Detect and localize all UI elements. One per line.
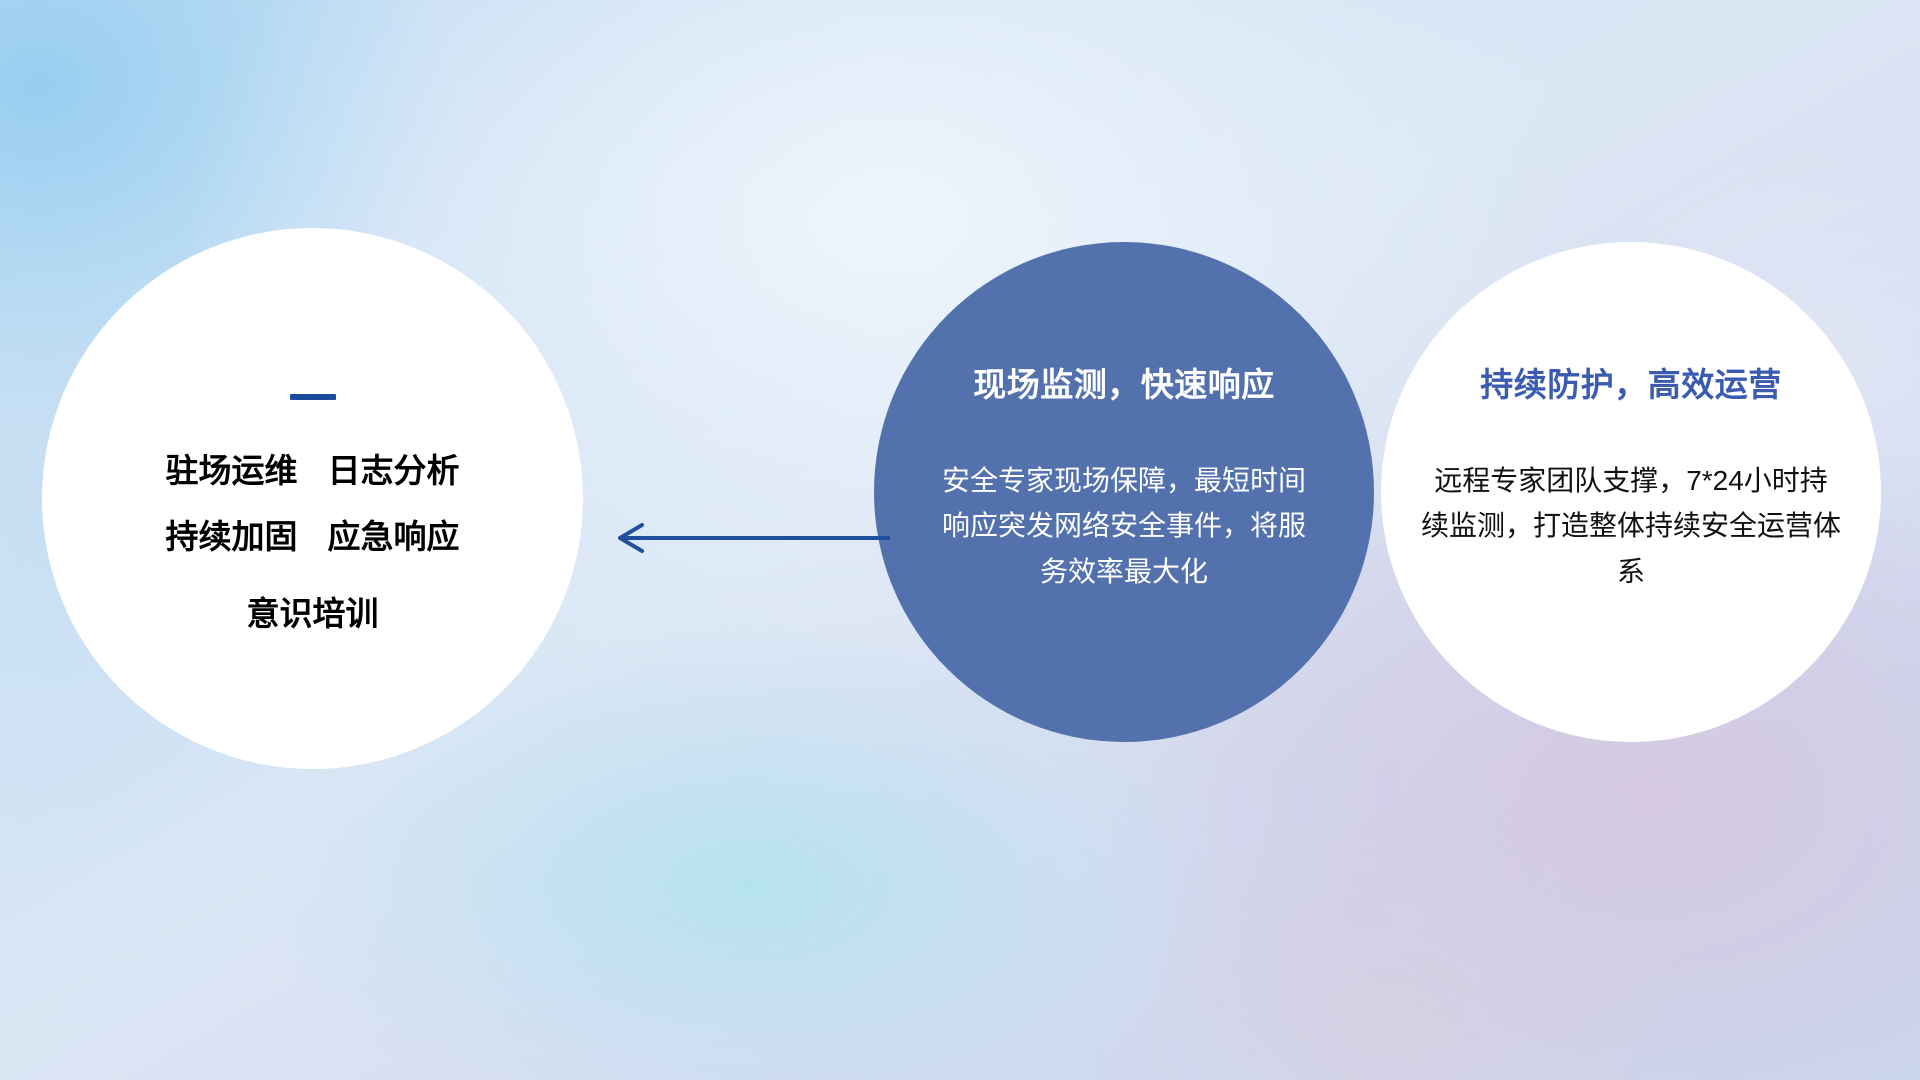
onsite-monitoring-title: 现场监测，快速响应 [973,358,1275,406]
continuous-protection-title: 持续防护，高效运营 [1480,358,1782,406]
divider-dash-icon [290,394,336,400]
onsite-monitoring-body: 安全专家现场保障，最短时间响应突发网络安全事件，将服务效率最大化 [933,458,1315,594]
capability-label: 应急响应 [328,518,460,555]
slide-canvas: 驻场运维日志分析 持续加固应急响应 意识培训 现场监测，快速响应 安全专家现场保… [0,0,1920,1080]
list-item: 驻场运维日志分析 [166,454,460,487]
capability-label: 驻场运维 [166,452,298,489]
left-arrow-icon [600,518,890,558]
continuous-protection-circle[interactable]: 持续防护，高效运营 远程专家团队支撑，7*24小时持续监测，打造整体持续安全运营… [1381,242,1881,742]
list-item: 持续加固应急响应 [166,520,460,553]
onsite-monitoring-circle[interactable]: 现场监测，快速响应 安全专家现场保障，最短时间响应突发网络安全事件，将服务效率最… [874,242,1374,742]
list-item: 意识培训 [166,597,460,630]
capability-label: 日志分析 [328,452,460,489]
capability-label: 意识培训 [247,595,379,632]
continuous-protection-body: 远程专家团队支撑，7*24小时持续监测，打造整体持续安全运营体系 [1421,458,1841,594]
left-capability-circle[interactable]: 驻场运维日志分析 持续加固应急响应 意识培训 [42,228,583,769]
left-capability-list: 驻场运维日志分析 持续加固应急响应 意识培训 [166,454,460,630]
capability-label: 持续加固 [166,518,298,555]
